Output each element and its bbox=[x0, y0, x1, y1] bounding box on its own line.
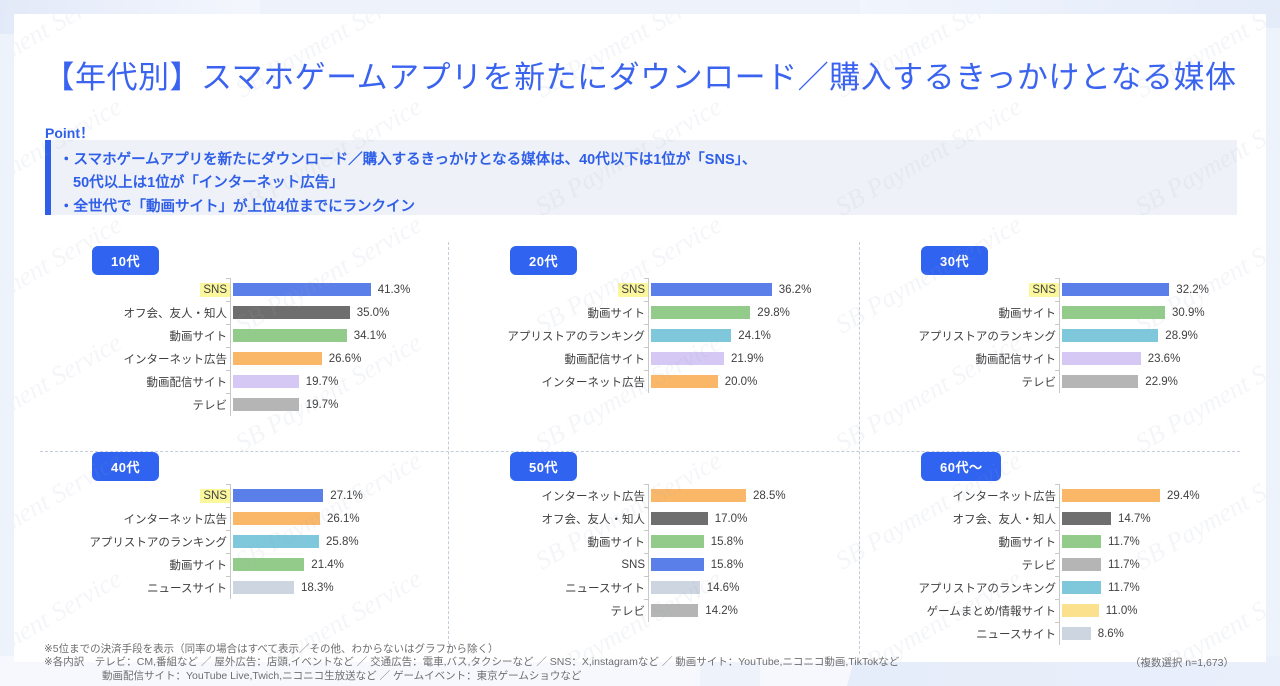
bar-row: インターネット広告26.1% bbox=[40, 507, 451, 530]
category-label-wrap: テレビ bbox=[869, 373, 1059, 391]
bar bbox=[1062, 512, 1111, 525]
bar bbox=[233, 489, 323, 502]
bar-wrap: 29.4% bbox=[1060, 489, 1280, 502]
bar bbox=[651, 329, 731, 342]
bar-wrap: 29.8% bbox=[649, 306, 869, 319]
bar-wrap: 22.9% bbox=[1060, 375, 1280, 388]
bar-value-label: 15.8% bbox=[711, 559, 744, 571]
bar-wrap: 26.1% bbox=[231, 512, 451, 525]
axis-tick bbox=[648, 484, 649, 507]
axis-tick bbox=[1059, 530, 1060, 553]
bar-wrap: 15.8% bbox=[649, 558, 869, 571]
chart-panel: 40代SNS27.1%インターネット広告26.1%アプリストアのランキング25.… bbox=[40, 448, 451, 653]
bar-value-label: 20.0% bbox=[725, 376, 758, 388]
bar-row: アプリストアのランキング11.7% bbox=[869, 576, 1280, 599]
category-label-wrap: 動画配信サイト bbox=[40, 373, 230, 391]
bar-wrap: 24.1% bbox=[649, 329, 869, 342]
axis-tick bbox=[1059, 278, 1060, 301]
footnote-3: 動画配信サイト：YouTube Live,Twich,ニコニコ生放送など ／ ゲ… bbox=[102, 669, 581, 684]
bar-value-label: 14.7% bbox=[1118, 513, 1151, 525]
bar-row: 動画サイト30.9% bbox=[869, 301, 1280, 324]
category-label-wrap: アプリストアのランキング bbox=[40, 533, 230, 551]
bar-row: ニュースサイト18.3% bbox=[40, 576, 451, 599]
bar-row: テレビ19.7% bbox=[40, 393, 451, 416]
category-label-wrap: テレビ bbox=[458, 602, 648, 620]
category-label: アプリストアのランキング bbox=[915, 327, 1059, 345]
bar-row: アプリストアのランキング28.9% bbox=[869, 324, 1280, 347]
category-label: アプリストアのランキング bbox=[504, 327, 648, 345]
bar-wrap: 15.8% bbox=[649, 535, 869, 548]
bar bbox=[1062, 535, 1101, 548]
bar-wrap: 14.6% bbox=[649, 581, 869, 594]
bar-wrap: 21.4% bbox=[231, 558, 451, 571]
bar-value-label: 15.8% bbox=[711, 536, 744, 548]
bar-value-label: 23.6% bbox=[1148, 353, 1181, 365]
bar-wrap: 21.9% bbox=[649, 352, 869, 365]
bar-wrap: 11.0% bbox=[1060, 604, 1280, 617]
bar-value-label: 11.7% bbox=[1108, 536, 1140, 548]
bar bbox=[233, 329, 347, 342]
bar-wrap: 26.6% bbox=[231, 352, 451, 365]
bar bbox=[1062, 375, 1138, 388]
bar bbox=[233, 512, 320, 525]
axis-tick bbox=[230, 576, 231, 599]
bar-value-label: 14.2% bbox=[705, 605, 738, 617]
category-label-wrap: インターネット広告 bbox=[869, 487, 1059, 505]
bar bbox=[233, 375, 299, 388]
category-label-wrap: SNS bbox=[869, 283, 1059, 297]
bar-value-label: 29.8% bbox=[757, 307, 790, 319]
category-label: テレビ bbox=[1019, 556, 1060, 574]
bar-wrap: 11.7% bbox=[1060, 581, 1280, 594]
axis-tick bbox=[230, 553, 231, 576]
category-label-wrap: 動画サイト bbox=[869, 533, 1059, 551]
axis-tick bbox=[230, 530, 231, 553]
category-label-wrap: オフ会、友人・知人 bbox=[869, 510, 1059, 528]
bar bbox=[1062, 283, 1169, 296]
bar-wrap: 28.5% bbox=[649, 489, 869, 502]
axis-tick bbox=[1059, 622, 1060, 645]
category-label-wrap: アプリストアのランキング bbox=[458, 327, 648, 345]
category-label: SNS bbox=[618, 558, 648, 572]
category-label-wrap: ニュースサイト bbox=[40, 579, 230, 597]
category-label-wrap: インターネット広告 bbox=[40, 350, 230, 368]
point-box: スマホゲームアプリを新たにダウンロード／購入するきっかけとなる媒体は、40代以下… bbox=[45, 140, 1237, 215]
category-label: SNS bbox=[618, 283, 648, 297]
axis-tick bbox=[230, 347, 231, 370]
category-label-wrap: テレビ bbox=[40, 396, 230, 414]
bar-row: SNS27.1% bbox=[40, 484, 451, 507]
bar-row: インターネット広告29.4% bbox=[869, 484, 1280, 507]
category-label-wrap: 動画配信サイト bbox=[458, 350, 648, 368]
bar-value-label: 11.7% bbox=[1108, 559, 1140, 571]
age-group-badge[interactable]: 10代 bbox=[92, 246, 159, 275]
axis-tick bbox=[1059, 347, 1060, 370]
category-label: テレビ bbox=[1019, 373, 1060, 391]
bar-wrap: 27.1% bbox=[231, 489, 451, 502]
bar-value-label: 35.0% bbox=[357, 307, 390, 319]
bar-row: 動画配信サイト19.7% bbox=[40, 370, 451, 393]
bar-value-label: 14.6% bbox=[707, 582, 740, 594]
bar-wrap: 19.7% bbox=[231, 375, 451, 388]
bar bbox=[233, 283, 371, 296]
bar-row: SNS15.8% bbox=[458, 553, 869, 576]
bar-value-label: 22.9% bbox=[1145, 376, 1178, 388]
point-item: スマホゲームアプリを新たにダウンロード／購入するきっかけとなる媒体は、40代以下… bbox=[73, 149, 1237, 196]
bar bbox=[651, 375, 718, 388]
category-label: 動画サイト bbox=[585, 533, 649, 551]
bar bbox=[651, 306, 750, 319]
bar-wrap: 30.9% bbox=[1060, 306, 1280, 319]
bar-row: テレビ22.9% bbox=[869, 370, 1280, 393]
category-label: オフ会、友人・知人 bbox=[539, 510, 649, 528]
bar bbox=[233, 306, 350, 319]
axis-tick bbox=[648, 278, 649, 301]
bar-rows: SNS41.3%オフ会、友人・知人35.0%動画サイト34.1%インターネット広… bbox=[40, 278, 451, 416]
chart-panel: 10代SNS41.3%オフ会、友人・知人35.0%動画サイト34.1%インターネ… bbox=[40, 242, 451, 447]
bar-row: ニュースサイト14.6% bbox=[458, 576, 869, 599]
bar-value-label: 36.2% bbox=[779, 284, 812, 296]
bar-wrap: 11.7% bbox=[1060, 535, 1280, 548]
category-label: 動画配信サイト bbox=[973, 350, 1060, 368]
bar-value-label: 26.6% bbox=[329, 353, 362, 365]
bar bbox=[1062, 306, 1165, 319]
category-label: インターネット広告 bbox=[121, 350, 231, 368]
category-label-wrap: SNS bbox=[40, 283, 230, 297]
category-label: アプリストアのランキング bbox=[86, 533, 230, 551]
axis-tick bbox=[648, 576, 649, 599]
page-title: 【年代別】スマホゲームアプリを新たにダウンロード／購入するきっかけとなる媒体 bbox=[14, 52, 1266, 97]
bar bbox=[1062, 489, 1160, 502]
bar-wrap: 35.0% bbox=[231, 306, 451, 319]
category-label-wrap: SNS bbox=[458, 283, 648, 297]
category-label-wrap: オフ会、友人・知人 bbox=[458, 510, 648, 528]
bar-value-label: 19.7% bbox=[306, 399, 339, 411]
category-label-wrap: アプリストアのランキング bbox=[869, 579, 1059, 597]
category-label-wrap: テレビ bbox=[869, 556, 1059, 574]
axis-tick bbox=[1059, 370, 1060, 393]
axis-tick bbox=[648, 324, 649, 347]
category-label: 動画配信サイト bbox=[562, 350, 649, 368]
category-label-wrap: ニュースサイト bbox=[458, 579, 648, 597]
category-label-wrap: 動画サイト bbox=[458, 533, 648, 551]
bar bbox=[651, 581, 700, 594]
category-label-wrap: インターネット広告 bbox=[458, 373, 648, 391]
axis-tick bbox=[230, 393, 231, 416]
bar-row: 動画配信サイト23.6% bbox=[869, 347, 1280, 370]
bar-row: SNS36.2% bbox=[458, 278, 869, 301]
axis-tick bbox=[230, 370, 231, 393]
bar-value-label: 24.1% bbox=[738, 330, 771, 342]
bar bbox=[651, 283, 772, 296]
bar bbox=[651, 535, 704, 548]
axis-tick bbox=[1059, 324, 1060, 347]
bar-value-label: 18.3% bbox=[301, 582, 334, 594]
bar-row: オフ会、友人・知人35.0% bbox=[40, 301, 451, 324]
axis-tick bbox=[648, 301, 649, 324]
sample-size-note: （複数選択 n=1,673） bbox=[1130, 655, 1234, 670]
bar bbox=[233, 581, 294, 594]
category-label: ゲームまとめ/情報サイト bbox=[924, 602, 1059, 620]
axis-tick bbox=[1059, 484, 1060, 507]
bar-row: アプリストアのランキング25.8% bbox=[40, 530, 451, 553]
axis-tick bbox=[1059, 553, 1060, 576]
category-label-wrap: 動画サイト bbox=[869, 304, 1059, 322]
bar-value-label: 27.1% bbox=[330, 490, 363, 502]
bar bbox=[233, 352, 322, 365]
category-label-wrap: SNS bbox=[40, 489, 230, 503]
category-label: 動画配信サイト bbox=[144, 373, 231, 391]
category-label: SNS bbox=[1029, 283, 1059, 297]
chart-panel: 30代SNS32.2%動画サイト30.9%アプリストアのランキング28.9%動画… bbox=[869, 242, 1280, 447]
bar-row: アプリストアのランキング24.1% bbox=[458, 324, 869, 347]
category-label: オフ会、友人・知人 bbox=[121, 304, 231, 322]
axis-tick bbox=[230, 507, 231, 530]
bar-value-label: 34.1% bbox=[354, 330, 387, 342]
category-label: 動画サイト bbox=[996, 304, 1060, 322]
axis-tick bbox=[648, 530, 649, 553]
bar-value-label: 21.4% bbox=[311, 559, 344, 571]
bar-row: インターネット広告20.0% bbox=[458, 370, 869, 393]
axis-tick bbox=[648, 370, 649, 393]
category-label: ニュースサイト bbox=[562, 579, 648, 597]
category-label-wrap: インターネット広告 bbox=[40, 510, 230, 528]
bar-row: 動画配信サイト21.9% bbox=[458, 347, 869, 370]
bar-row: インターネット広告26.6% bbox=[40, 347, 451, 370]
axis-tick bbox=[1059, 576, 1060, 599]
axis-tick bbox=[648, 599, 649, 622]
bar-row: 動画サイト34.1% bbox=[40, 324, 451, 347]
category-label: インターネット広告 bbox=[539, 373, 649, 391]
axis-tick bbox=[230, 484, 231, 507]
bar-wrap: 14.2% bbox=[649, 604, 869, 617]
bar-wrap: 32.2% bbox=[1060, 283, 1280, 296]
bar-rows: インターネット広告28.5%オフ会、友人・知人17.0%動画サイト15.8%SN… bbox=[458, 484, 869, 622]
bar-wrap: 34.1% bbox=[231, 329, 451, 342]
bar-wrap: 11.7% bbox=[1060, 558, 1280, 571]
category-label: SNS bbox=[200, 283, 230, 297]
bar-row: 動画サイト15.8% bbox=[458, 530, 869, 553]
category-label: ニュースサイト bbox=[973, 625, 1059, 643]
bar-row: 動画サイト29.8% bbox=[458, 301, 869, 324]
point-item: 全世代で「動画サイト」が上位4位までにランクイン bbox=[73, 196, 1237, 219]
category-label: インターネット広告 bbox=[539, 487, 649, 505]
category-label-wrap: ニュースサイト bbox=[869, 625, 1059, 643]
bar bbox=[651, 558, 704, 571]
category-label: 動画サイト bbox=[996, 533, 1060, 551]
bar bbox=[1062, 581, 1101, 594]
bar-rows: SNS32.2%動画サイト30.9%アプリストアのランキング28.9%動画配信サ… bbox=[869, 278, 1280, 393]
age-group-badge[interactable]: 50代 bbox=[510, 452, 577, 481]
bar-row: 動画サイト11.7% bbox=[869, 530, 1280, 553]
bar-wrap: 23.6% bbox=[1060, 352, 1280, 365]
bar-wrap: 18.3% bbox=[231, 581, 451, 594]
bar bbox=[651, 512, 708, 525]
bar-wrap: 25.8% bbox=[231, 535, 451, 548]
axis-tick bbox=[648, 347, 649, 370]
bar bbox=[1062, 352, 1141, 365]
chart-panel: 50代インターネット広告28.5%オフ会、友人・知人17.0%動画サイト15.8… bbox=[458, 448, 869, 653]
bar-row: ゲームまとめ/情報サイト11.0% bbox=[869, 599, 1280, 622]
bar-row: インターネット広告28.5% bbox=[458, 484, 869, 507]
age-group-badge[interactable]: 60代～ bbox=[921, 452, 1001, 481]
axis-tick bbox=[230, 324, 231, 347]
category-label: テレビ bbox=[608, 602, 649, 620]
category-label-wrap: インターネット広告 bbox=[458, 487, 648, 505]
category-label: 動画サイト bbox=[167, 556, 231, 574]
chart-panel: 60代～インターネット広告29.4%オフ会、友人・知人14.7%動画サイト11.… bbox=[869, 448, 1280, 653]
bar-wrap: 28.9% bbox=[1060, 329, 1280, 342]
bar-rows: SNS27.1%インターネット広告26.1%アプリストアのランキング25.8%動… bbox=[40, 484, 451, 599]
bar-value-label: 25.8% bbox=[326, 536, 359, 548]
bar-row: テレビ14.2% bbox=[458, 599, 869, 622]
bar-row: オフ会、友人・知人14.7% bbox=[869, 507, 1280, 530]
category-label: ニュースサイト bbox=[144, 579, 230, 597]
bar-value-label: 28.9% bbox=[1165, 330, 1198, 342]
bar-value-label: 21.9% bbox=[731, 353, 764, 365]
category-label: オフ会、友人・知人 bbox=[950, 510, 1060, 528]
bar-wrap: 20.0% bbox=[649, 375, 869, 388]
bar-row: SNS32.2% bbox=[869, 278, 1280, 301]
bar-wrap: 17.0% bbox=[649, 512, 869, 525]
category-label-wrap: 動画サイト bbox=[40, 327, 230, 345]
category-label: インターネット広告 bbox=[950, 487, 1060, 505]
bar-value-label: 19.7% bbox=[306, 376, 339, 388]
category-label-wrap: オフ会、友人・知人 bbox=[40, 304, 230, 322]
bar bbox=[1062, 558, 1101, 571]
bar bbox=[651, 489, 746, 502]
footnote-2: ※各内訳 テレビ：CM,番組など ／ 屋外広告：店頭,イベントなど ／ 交通広告… bbox=[44, 655, 899, 670]
bar-row: テレビ11.7% bbox=[869, 553, 1280, 576]
axis-tick bbox=[1059, 301, 1060, 324]
bar-value-label: 32.2% bbox=[1176, 284, 1209, 296]
bar-value-label: 30.9% bbox=[1172, 307, 1205, 319]
axis-tick bbox=[1059, 507, 1060, 530]
category-label: 動画サイト bbox=[167, 327, 231, 345]
age-group-badge[interactable]: 30代 bbox=[921, 246, 988, 275]
bar bbox=[651, 604, 698, 617]
bar-wrap: 36.2% bbox=[649, 283, 869, 296]
bar-wrap: 41.3% bbox=[231, 283, 451, 296]
axis-tick bbox=[1059, 599, 1060, 622]
bar-row: 動画サイト21.4% bbox=[40, 553, 451, 576]
category-label-wrap: SNS bbox=[458, 558, 648, 572]
slide-card: SB Payment ServiceSB Payment ServiceSB P… bbox=[14, 14, 1266, 662]
bar bbox=[1062, 604, 1099, 617]
bar-value-label: 28.5% bbox=[753, 490, 786, 502]
category-label: インターネット広告 bbox=[121, 510, 231, 528]
category-label-wrap: ゲームまとめ/情報サイト bbox=[869, 602, 1059, 620]
bar-value-label: 11.7% bbox=[1108, 582, 1140, 594]
bar-rows: SNS36.2%動画サイト29.8%アプリストアのランキング24.1%動画配信サ… bbox=[458, 278, 869, 393]
bar bbox=[651, 352, 724, 365]
bar-value-label: 8.6% bbox=[1098, 628, 1124, 640]
bar-value-label: 11.0% bbox=[1106, 605, 1138, 617]
bar-row: ニュースサイト8.6% bbox=[869, 622, 1280, 645]
bar-row: オフ会、友人・知人17.0% bbox=[458, 507, 869, 530]
bar-value-label: 26.1% bbox=[327, 513, 360, 525]
bar-value-label: 41.3% bbox=[378, 284, 411, 296]
bar bbox=[233, 558, 304, 571]
axis-tick bbox=[230, 278, 231, 301]
bar-row: SNS41.3% bbox=[40, 278, 451, 301]
bar-wrap: 8.6% bbox=[1060, 627, 1280, 640]
category-label-wrap: アプリストアのランキング bbox=[869, 327, 1059, 345]
chart-panel: 20代SNS36.2%動画サイト29.8%アプリストアのランキング24.1%動画… bbox=[458, 242, 869, 447]
category-label: テレビ bbox=[190, 396, 231, 414]
bar bbox=[233, 535, 319, 548]
category-label-wrap: 動画サイト bbox=[458, 304, 648, 322]
bar-rows: インターネット広告29.4%オフ会、友人・知人14.7%動画サイト11.7%テレ… bbox=[869, 484, 1280, 645]
category-label: アプリストアのランキング bbox=[915, 579, 1059, 597]
axis-tick bbox=[230, 301, 231, 324]
category-label: SNS bbox=[200, 489, 230, 503]
bar-value-label: 17.0% bbox=[715, 513, 748, 525]
axis-tick bbox=[648, 553, 649, 576]
bar-value-label: 29.4% bbox=[1167, 490, 1200, 502]
category-label: 動画サイト bbox=[585, 304, 649, 322]
axis-tick bbox=[648, 507, 649, 530]
category-label-wrap: 動画配信サイト bbox=[869, 350, 1059, 368]
age-group-badge[interactable]: 40代 bbox=[92, 452, 159, 481]
age-group-badge[interactable]: 20代 bbox=[510, 246, 577, 275]
bar bbox=[1062, 627, 1091, 640]
bar-wrap: 19.7% bbox=[231, 398, 451, 411]
bar bbox=[1062, 329, 1158, 342]
bar bbox=[233, 398, 299, 411]
bar-wrap: 14.7% bbox=[1060, 512, 1280, 525]
category-label-wrap: 動画サイト bbox=[40, 556, 230, 574]
